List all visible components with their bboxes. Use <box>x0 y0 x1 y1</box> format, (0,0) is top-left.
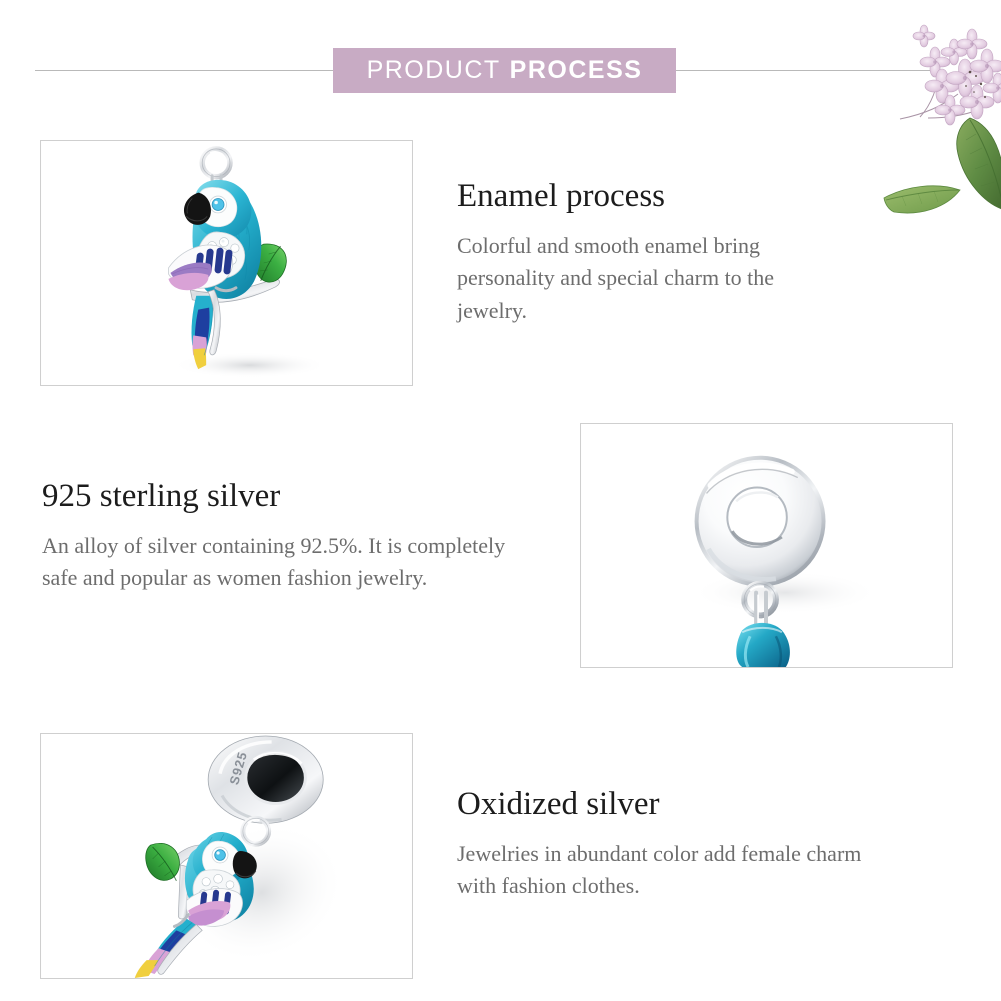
photo-frame-sterling-silver <box>580 423 953 668</box>
section-body-oxidized-silver: Jewelries in abundant color add female c… <box>457 838 897 903</box>
section-body-enamel-process: Colorful and smooth enamel bring persona… <box>457 230 827 328</box>
section-body-sterling-silver: An alloy of silver containing 92.5%. It … <box>42 530 512 595</box>
banner-title-light: PRODUCT <box>367 56 501 85</box>
section-title-oxidized-silver: Oxidized silver <box>457 786 897 824</box>
section-banner-product-process: PRODUCT PROCESS <box>333 48 676 93</box>
product-process-infographic: PRODUCT PROCESS <box>0 0 1001 1001</box>
photo-frame-enamel-process <box>40 140 413 386</box>
section-title-enamel-process: Enamel process <box>457 178 827 216</box>
photo-frame-oxidized-silver: S925 <box>40 733 413 979</box>
text-block-sterling-silver: 925 sterling silver An alloy of silver c… <box>42 478 512 595</box>
lilac-blossom-icon <box>880 14 1001 244</box>
banner-title-bold: PROCESS <box>510 56 643 85</box>
text-block-oxidized-silver: Oxidized silver Jewelries in abundant co… <box>457 786 897 903</box>
section-title-sterling-silver: 925 sterling silver <box>42 478 512 516</box>
text-block-enamel-process: Enamel process Colorful and smooth ename… <box>457 178 827 328</box>
